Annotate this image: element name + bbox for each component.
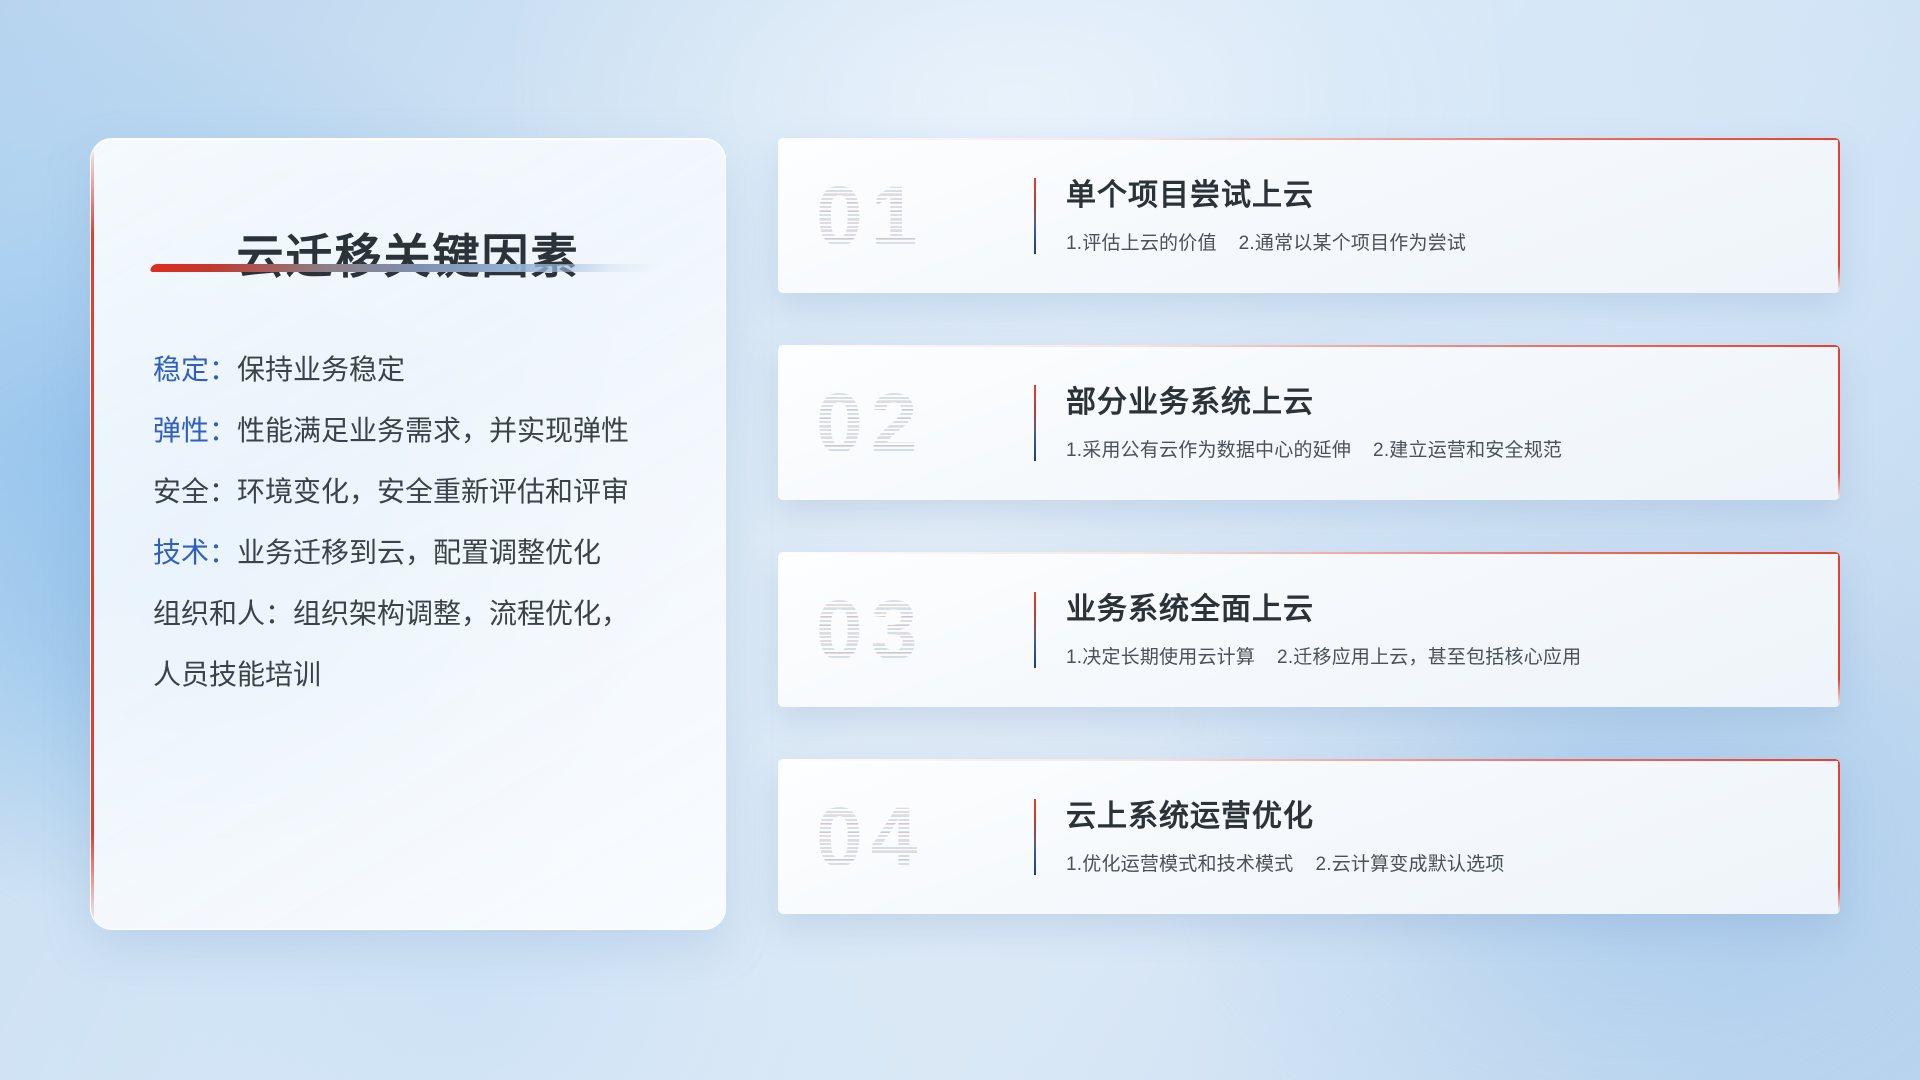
card-point-2: 2.建立运营和安全规范 xyxy=(1373,440,1562,461)
stage-card-01[interactable]: 01 01 单个项目尝试上云 1.评估上云的价值2.通常以某个项目作为尝试 xyxy=(778,138,1840,293)
stage-number-watermark-accent: 03 xyxy=(816,580,1006,680)
list-item-text: 组织架构调整，流程优化， xyxy=(293,598,629,629)
list-item: 组织和人：组织架构调整，流程优化， xyxy=(153,583,689,644)
list-item-label: 技术： xyxy=(153,537,237,568)
card-point-1: 1.评估上云的价值 xyxy=(1066,233,1217,254)
card-top-accent xyxy=(778,345,1840,347)
card-point-1: 1.优化运营模式和技术模式 xyxy=(1066,854,1293,875)
card-body: 单个项目尝试上云 1.评估上云的价值2.通常以某个项目作为尝试 xyxy=(1066,170,1810,255)
list-item: 稳定：保持业务稳定 xyxy=(153,339,689,400)
card-subtitle: 1.采用公有云作为数据中心的延伸2.建立运营和安全规范 xyxy=(1066,435,1810,462)
card-title: 部分业务系统上云 xyxy=(1066,377,1810,421)
card-point-2: 2.迁移应用上云，甚至包括核心应用 xyxy=(1277,647,1581,668)
card-subtitle: 1.优化运营模式和技术模式2.云计算变成默认选项 xyxy=(1066,849,1810,876)
stage-number-watermark-accent: 04 xyxy=(816,787,1006,887)
stage-number-watermark-accent: 01 xyxy=(816,166,1006,266)
key-factors-list: 稳定：保持业务稳定 弹性：性能满足业务需求，并实现弹性 安全：环境变化，安全重新… xyxy=(153,339,689,705)
card-subtitle: 1.决定长期使用云计算2.迁移应用上云，甚至包括核心应用 xyxy=(1066,642,1810,669)
list-item-text: 人员技能培训 xyxy=(153,659,321,690)
stage-card-04[interactable]: 04 04 云上系统运营优化 1.优化运营模式和技术模式2.云计算变成默认选项 xyxy=(778,759,1840,914)
card-divider-bar xyxy=(1034,592,1036,668)
card-point-1: 1.采用公有云作为数据中心的延伸 xyxy=(1066,440,1351,461)
key-factors-panel: 云迁移关键因素 稳定：保持业务稳定 弹性：性能满足业务需求，并实现弹性 安全：环… xyxy=(90,138,726,930)
card-divider-bar xyxy=(1034,799,1036,875)
list-item-label: 弹性： xyxy=(153,415,237,446)
stage-number-watermark-accent: 02 xyxy=(816,373,1006,473)
list-item-text: 环境变化，安全重新评估和评审 xyxy=(237,476,629,507)
list-item: 技术：业务迁移到云，配置调整优化 xyxy=(153,522,689,583)
stage-card-02[interactable]: 02 02 部分业务系统上云 1.采用公有云作为数据中心的延伸2.建立运营和安全… xyxy=(778,345,1840,500)
card-top-accent xyxy=(778,552,1840,554)
card-point-2: 2.通常以某个项目作为尝试 xyxy=(1239,233,1466,254)
card-point-2: 2.云计算变成默认选项 xyxy=(1315,854,1504,875)
card-body: 部分业务系统上云 1.采用公有云作为数据中心的延伸2.建立运营和安全规范 xyxy=(1066,377,1810,462)
list-item-text: 保持业务稳定 xyxy=(237,354,405,385)
list-item-label: 稳定： xyxy=(153,354,237,385)
card-title: 业务系统全面上云 xyxy=(1066,584,1810,628)
card-title: 云上系统运营优化 xyxy=(1066,791,1810,835)
card-point-1: 1.决定长期使用云计算 xyxy=(1066,647,1255,668)
list-item: 安全：环境变化，安全重新评估和评审 xyxy=(153,461,689,522)
list-item-text: 性能满足业务需求，并实现弹性 xyxy=(237,415,629,446)
list-item-continuation: 人员技能培训 xyxy=(153,644,689,705)
list-item-label: 安全： xyxy=(153,476,237,507)
stage-card-03[interactable]: 03 03 业务系统全面上云 1.决定长期使用云计算2.迁移应用上云，甚至包括核… xyxy=(778,552,1840,707)
list-item-label: 组织和人： xyxy=(153,598,293,629)
card-divider-bar xyxy=(1034,178,1036,254)
list-item: 弹性：性能满足业务需求，并实现弹性 xyxy=(153,400,689,461)
card-title: 单个项目尝试上云 xyxy=(1066,170,1810,214)
title-underline-accent xyxy=(149,264,663,272)
card-body: 云上系统运营优化 1.优化运营模式和技术模式2.云计算变成默认选项 xyxy=(1066,791,1810,876)
card-body: 业务系统全面上云 1.决定长期使用云计算2.迁移应用上云，甚至包括核心应用 xyxy=(1066,584,1810,669)
list-item-text: 业务迁移到云，配置调整优化 xyxy=(237,537,601,568)
migration-stage-cards: 01 01 单个项目尝试上云 1.评估上云的价值2.通常以某个项目作为尝试 02… xyxy=(778,138,1840,966)
card-divider-bar xyxy=(1034,385,1036,461)
card-subtitle: 1.评估上云的价值2.通常以某个项目作为尝试 xyxy=(1066,228,1810,255)
panel-title: 云迁移关键因素 xyxy=(91,218,725,287)
card-top-accent xyxy=(778,138,1840,140)
card-top-accent xyxy=(778,759,1840,761)
